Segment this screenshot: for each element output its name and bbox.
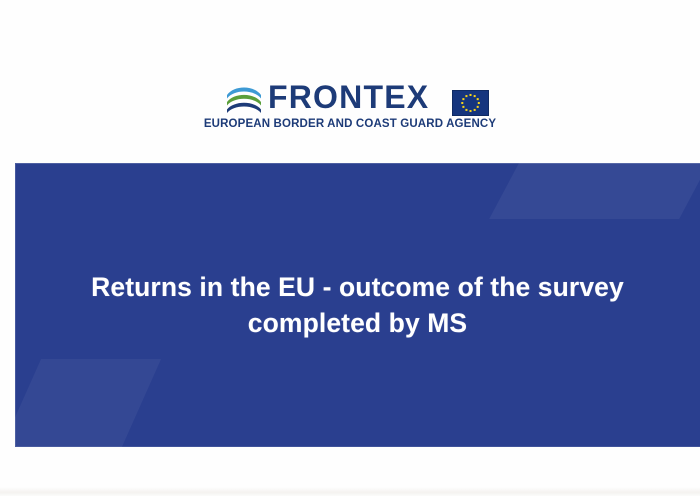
logo-row: FRONTEX (226, 82, 492, 116)
frontex-tagline: EUROPEAN BORDER AND COAST GUARD AGENCY (0, 118, 700, 130)
frontex-wordmark: FRONTEX (268, 80, 429, 114)
slide-title-text: Returns in the EU - outcome of the surve… (88, 269, 628, 341)
title-banner: Returns in the EU - outcome of the surve… (15, 163, 700, 447)
scan-edge-artifact (0, 487, 700, 496)
slide-title: Returns in the EU - outcome of the surve… (15, 163, 700, 447)
frontex-logo-header: FRONTEX (0, 82, 700, 138)
frontex-wave-mark-icon (226, 84, 262, 114)
european-union-flag-icon (452, 90, 489, 116)
scanned-page: FRONTEX (0, 0, 700, 496)
